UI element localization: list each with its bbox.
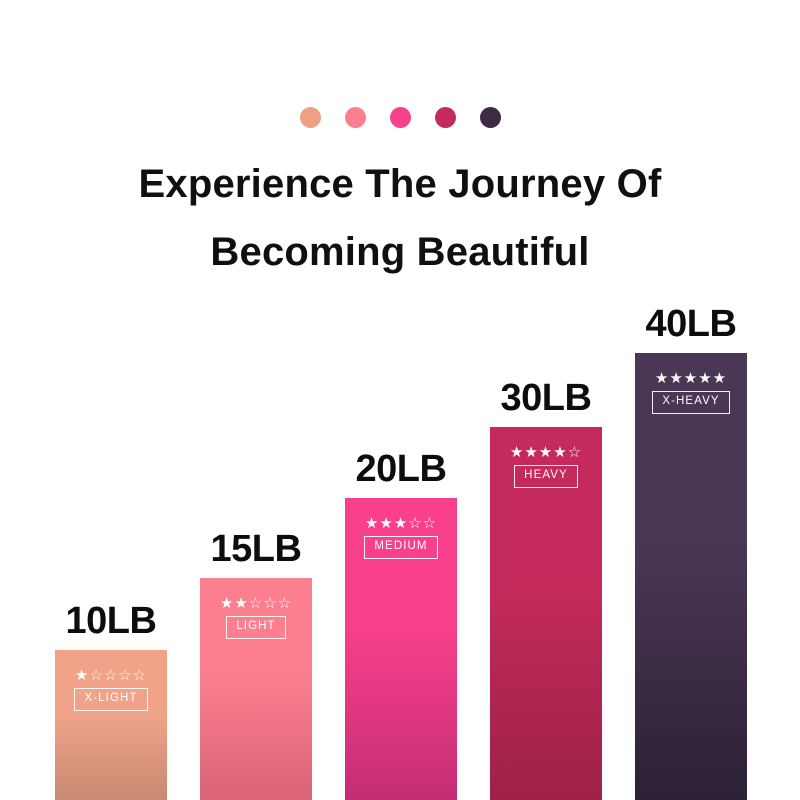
bar-40lb[interactable]: ★★★★★X-HEAVY	[635, 353, 747, 800]
bar-15lb[interactable]: ★★☆☆☆LIGHT	[200, 578, 312, 800]
star-rating-icon: ★☆☆☆☆	[75, 668, 147, 683]
bar-value-label: 15LB	[200, 530, 312, 568]
star-rating-icon: ★★☆☆☆	[220, 596, 292, 611]
tier-label: MEDIUM	[364, 536, 437, 559]
bar-badge: ★☆☆☆☆X-LIGHT	[55, 668, 167, 711]
star-rating-icon: ★★★☆☆	[365, 516, 437, 531]
bar-value-label: 10LB	[55, 602, 167, 640]
star-rating-icon: ★★★★★	[655, 371, 727, 386]
bar-chart: 10LB★☆☆☆☆X-LIGHT15LB★★☆☆☆LIGHT20LB★★★☆☆M…	[0, 0, 800, 800]
bar-column: ★★☆☆☆LIGHT	[200, 578, 312, 800]
bar-column: ★★★☆☆MEDIUM	[345, 498, 457, 800]
bar-30lb[interactable]: ★★★★☆HEAVY	[490, 427, 602, 800]
bar-column: ★★★★☆HEAVY	[490, 427, 602, 800]
bar-20lb[interactable]: ★★★☆☆MEDIUM	[345, 498, 457, 800]
star-rating-icon: ★★★★☆	[510, 445, 582, 460]
bar-badge: ★★★★☆HEAVY	[490, 445, 602, 488]
tier-label: HEAVY	[514, 465, 578, 488]
bar-badge: ★★☆☆☆LIGHT	[200, 596, 312, 639]
bar-value-label: 20LB	[345, 450, 457, 488]
bar-badge: ★★★★★X-HEAVY	[635, 371, 747, 414]
bar-badge: ★★★☆☆MEDIUM	[345, 516, 457, 559]
bar-column: ★★★★★X-HEAVY	[635, 353, 747, 800]
bar-value-label: 40LB	[635, 305, 747, 343]
tier-label: X-LIGHT	[74, 688, 147, 711]
tier-label: X-HEAVY	[652, 391, 729, 414]
bar-value-label: 30LB	[490, 379, 602, 417]
resistance-band-infographic: Experience The Journey Of Becoming Beaut…	[0, 0, 800, 800]
tier-label: LIGHT	[226, 616, 285, 639]
bar-10lb[interactable]: ★☆☆☆☆X-LIGHT	[55, 650, 167, 800]
bar-column: ★☆☆☆☆X-LIGHT	[55, 650, 167, 800]
